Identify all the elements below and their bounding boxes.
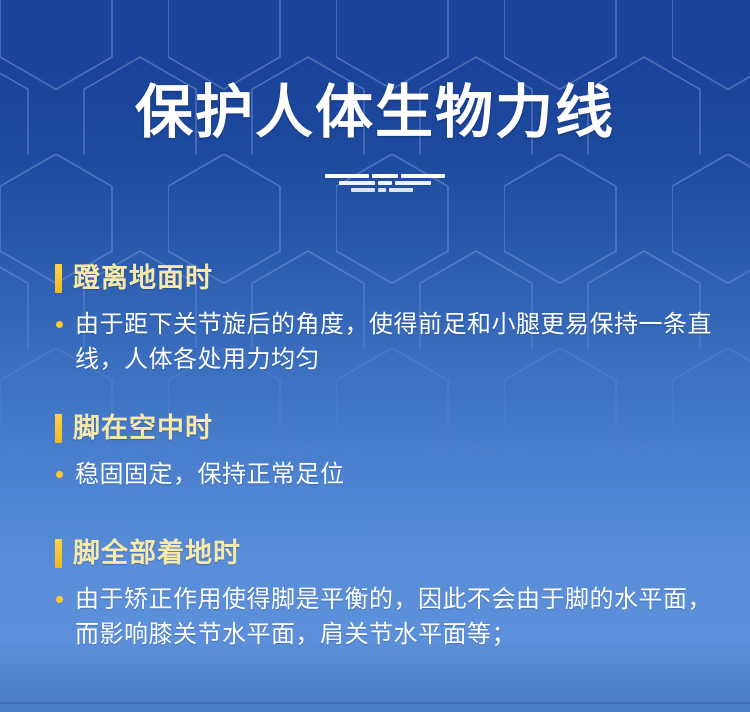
section-2-heading: 脚在空中时: [73, 412, 213, 444]
section-1-body-row: 由于距下关节旋后的角度，使得前足和小腿更易保持一条直线，人体各处用力均匀: [0, 307, 750, 377]
bottom-divider-line: [0, 702, 750, 704]
dot-bullet-icon: [56, 596, 63, 603]
content-section-2: 脚在空中时 稳固固定，保持正常足位: [0, 412, 750, 492]
section-2-body: 稳固固定，保持正常足位: [75, 457, 345, 492]
content-section-1: 蹬离地面时 由于距下关节旋后的角度，使得前足和小腿更易保持一条直线，人体各处用力…: [0, 262, 750, 377]
vertical-bar-marker-icon: [55, 264, 62, 293]
section-3-heading: 脚全部着地时: [73, 537, 241, 569]
section-2-body-row: 稳固固定，保持正常足位: [0, 457, 750, 492]
hexagon-pattern-background: [0, 0, 750, 480]
section-3-body: 由于矫正作用使得脚是平衡的，因此不会由于脚的水平面，而影响膝关节水平面，肩关节水…: [75, 582, 728, 652]
vertical-bar-marker-icon: [55, 414, 62, 443]
content-section-3: 脚全部着地时 由于矫正作用使得脚是平衡的，因此不会由于脚的水平面，而影响膝关节水…: [0, 537, 750, 652]
section-1-heading: 蹬离地面时: [73, 262, 213, 294]
poster-canvas: 保护人体生物力线 蹬离地面时 由于距下关节旋后的角度，使得前足和小腿更易保持一条…: [0, 0, 750, 712]
section-1-body: 由于距下关节旋后的角度，使得前足和小腿更易保持一条直线，人体各处用力均匀: [75, 307, 728, 377]
dot-bullet-icon: [56, 471, 63, 478]
dot-bullet-icon: [56, 321, 63, 328]
section-3-body-row: 由于矫正作用使得脚是平衡的，因此不会由于脚的水平面，而影响膝关节水平面，肩关节水…: [0, 582, 750, 652]
section-3-heading-row: 脚全部着地时: [0, 537, 750, 569]
page-title: 保护人体生物力线: [0, 78, 750, 148]
section-2-heading-row: 脚在空中时: [0, 412, 750, 444]
decorative-bar-divider-icon: [0, 172, 750, 198]
vertical-bar-marker-icon: [55, 539, 62, 568]
title-block: 保护人体生物力线: [0, 78, 750, 148]
section-1-heading-row: 蹬离地面时: [0, 262, 750, 294]
